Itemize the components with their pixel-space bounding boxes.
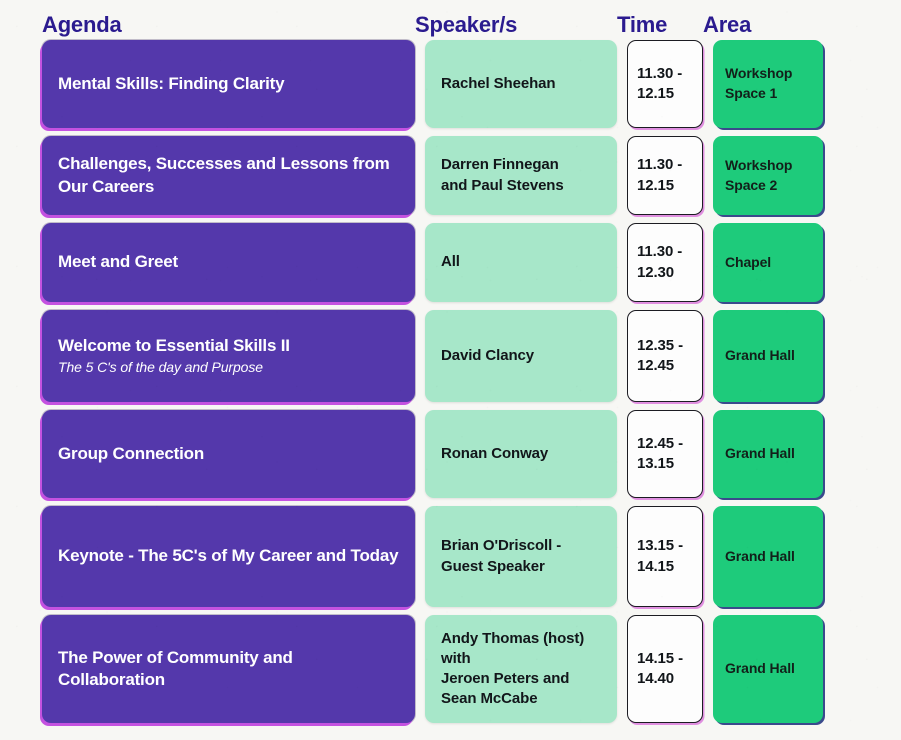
speaker-cell: Brian O'Driscoll - Guest Speaker [425,506,617,607]
column-header-area: Area [703,14,813,40]
agenda-card[interactable]: Challenges, Successes and Lessons from O… [42,136,415,215]
area-cell: Workshop Space 2 [713,136,823,215]
speaker-name: Darren Finnegan and Paul Stevens [441,155,601,196]
area-card[interactable]: Grand Hall [713,410,823,498]
speaker-card[interactable]: Andy Thomas (host) with Jeroen Peters an… [425,615,617,723]
table-row: Mental Skills: Finding ClarityRachel She… [0,40,901,128]
agenda-cell: Challenges, Successes and Lessons from O… [42,136,415,215]
speaker-cell: Andy Thomas (host) with Jeroen Peters an… [425,615,617,723]
time-cell: 12.45 - 13.15 [627,410,703,498]
time-card[interactable]: 11.30 - 12.30 [627,223,703,302]
time-range: 11.30 - 12.15 [637,64,693,105]
area-location: Chapel [725,253,811,273]
column-header-time: Time [617,14,703,40]
table-row: Group ConnectionRonan Conway12.45 - 13.1… [0,410,901,498]
area-location: Workshop Space 2 [725,156,811,195]
time-cell: 13.15 - 14.15 [627,506,703,607]
agenda-card[interactable]: Welcome to Essential Skills IIThe 5 C's … [42,310,415,402]
speaker-card[interactable]: All [425,223,617,302]
time-range: 11.30 - 12.30 [637,242,693,283]
time-cell: 11.30 - 12.15 [627,136,703,215]
area-cell: Grand Hall [713,310,823,402]
table-body: Mental Skills: Finding ClarityRachel She… [0,40,901,723]
time-cell: 11.30 - 12.15 [627,40,703,128]
speaker-card[interactable]: David Clancy [425,310,617,402]
time-range: 14.15 - 14.40 [637,649,693,690]
speaker-name: David Clancy [441,346,601,366]
area-card[interactable]: Grand Hall [713,615,823,723]
agenda-title: Mental Skills: Finding Clarity [58,73,399,95]
agenda-card[interactable]: Mental Skills: Finding Clarity [42,40,415,128]
column-header-speaker: Speaker/s [415,14,617,40]
agenda-cell: Group Connection [42,410,415,498]
time-card[interactable]: 13.15 - 14.15 [627,506,703,607]
speaker-cell: David Clancy [425,310,617,402]
agenda-title: Welcome to Essential Skills II [58,335,399,357]
speaker-name: Ronan Conway [441,444,601,464]
time-cell: 11.30 - 12.30 [627,223,703,302]
agenda-cell: Keynote - The 5C's of My Career and Toda… [42,506,415,607]
area-card[interactable]: Workshop Space 1 [713,40,823,128]
agenda-schedule-table: Agenda Speaker/s Time Area Mental Skills… [0,0,901,723]
agenda-card[interactable]: Keynote - The 5C's of My Career and Toda… [42,506,415,607]
speaker-card[interactable]: Rachel Sheehan [425,40,617,128]
speaker-cell: All [425,223,617,302]
area-location: Grand Hall [725,346,811,366]
agenda-cell: The Power of Community and Collaboration [42,615,415,723]
area-card[interactable]: Grand Hall [713,310,823,402]
column-header-agenda: Agenda [42,14,415,40]
agenda-title: Meet and Greet [58,251,399,273]
area-location: Grand Hall [725,444,811,464]
speaker-card[interactable]: Darren Finnegan and Paul Stevens [425,136,617,215]
agenda-cell: Mental Skills: Finding Clarity [42,40,415,128]
time-cell: 12.35 - 12.45 [627,310,703,402]
speaker-card[interactable]: Brian O'Driscoll - Guest Speaker [425,506,617,607]
table-row: Welcome to Essential Skills IIThe 5 C's … [0,310,901,402]
area-location: Grand Hall [725,659,811,679]
table-row: The Power of Community and Collaboration… [0,615,901,723]
agenda-cell: Welcome to Essential Skills IIThe 5 C's … [42,310,415,402]
speaker-cell: Rachel Sheehan [425,40,617,128]
agenda-subtitle: The 5 C's of the day and Purpose [58,358,399,376]
agenda-cell: Meet and Greet [42,223,415,302]
speaker-name: Brian O'Driscoll - Guest Speaker [441,536,601,577]
agenda-title: Keynote - The 5C's of My Career and Toda… [58,545,399,567]
area-cell: Grand Hall [713,506,823,607]
agenda-title: Group Connection [58,443,399,465]
area-card[interactable]: Grand Hall [713,506,823,607]
speaker-card[interactable]: Ronan Conway [425,410,617,498]
time-card[interactable]: 14.15 - 14.40 [627,615,703,723]
time-cell: 14.15 - 14.40 [627,615,703,723]
speaker-name: All [441,252,601,272]
agenda-title: Challenges, Successes and Lessons from O… [58,153,399,197]
time-card[interactable]: 11.30 - 12.15 [627,40,703,128]
area-cell: Grand Hall [713,615,823,723]
table-row: Keynote - The 5C's of My Career and Toda… [0,506,901,607]
table-header-row: Agenda Speaker/s Time Area [0,0,901,40]
speaker-name: Andy Thomas (host) with Jeroen Peters an… [441,629,601,710]
time-range: 12.45 - 13.15 [637,434,693,475]
area-cell: Grand Hall [713,410,823,498]
time-card[interactable]: 12.35 - 12.45 [627,310,703,402]
time-range: 11.30 - 12.15 [637,155,693,196]
speaker-cell: Ronan Conway [425,410,617,498]
area-cell: Chapel [713,223,823,302]
agenda-card[interactable]: The Power of Community and Collaboration [42,615,415,723]
area-location: Grand Hall [725,547,811,567]
speaker-name: Rachel Sheehan [441,74,601,94]
agenda-card[interactable]: Group Connection [42,410,415,498]
agenda-card[interactable]: Meet and Greet [42,223,415,302]
time-card[interactable]: 12.45 - 13.15 [627,410,703,498]
table-row: Challenges, Successes and Lessons from O… [0,136,901,215]
area-card[interactable]: Workshop Space 2 [713,136,823,215]
speaker-cell: Darren Finnegan and Paul Stevens [425,136,617,215]
area-location: Workshop Space 1 [725,64,811,103]
time-card[interactable]: 11.30 - 12.15 [627,136,703,215]
area-cell: Workshop Space 1 [713,40,823,128]
time-range: 12.35 - 12.45 [637,336,693,377]
agenda-title: The Power of Community and Collaboration [58,647,399,691]
area-card[interactable]: Chapel [713,223,823,302]
table-row: Meet and GreetAll11.30 - 12.30Chapel [0,223,901,302]
time-range: 13.15 - 14.15 [637,536,693,577]
